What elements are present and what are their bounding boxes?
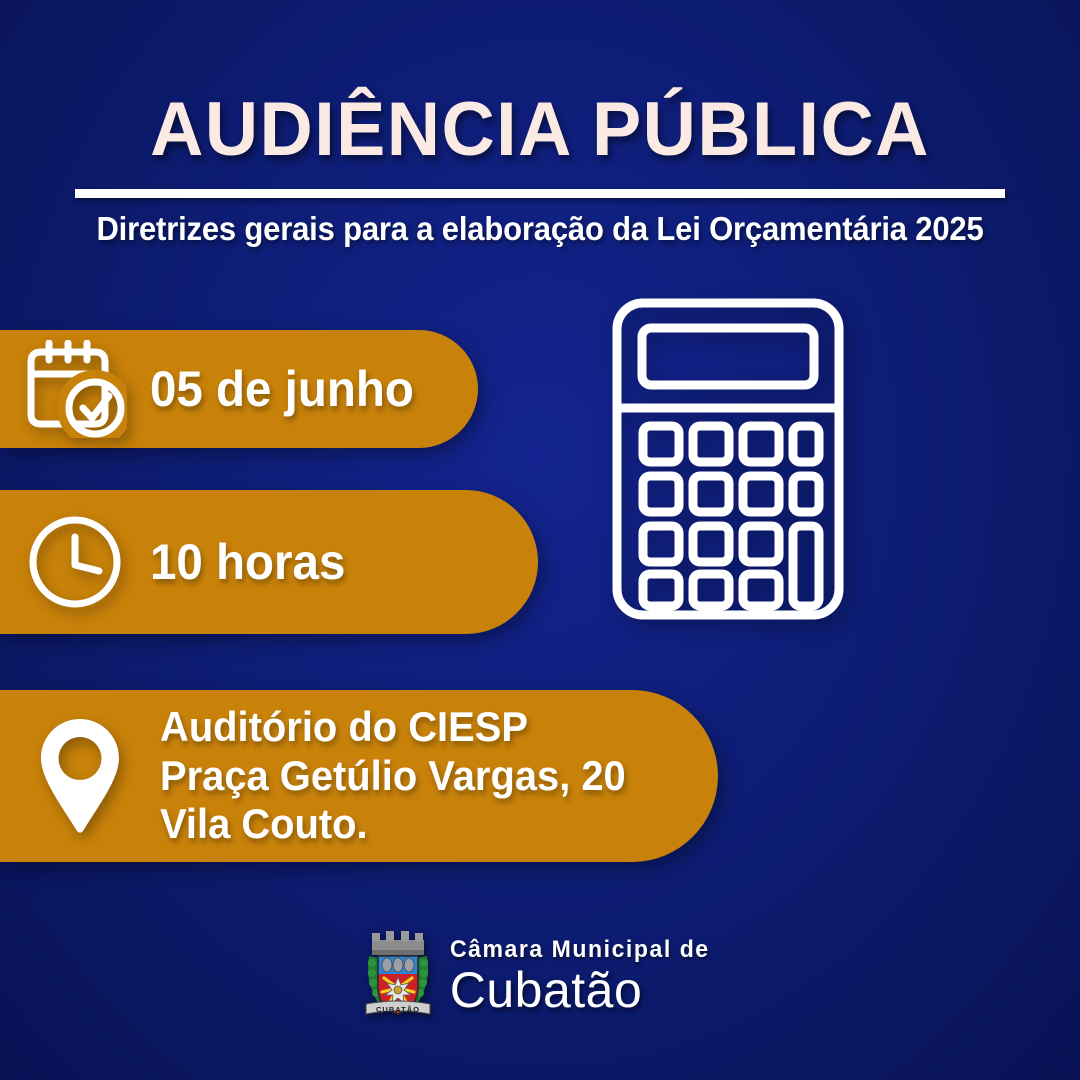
map-pin-icon [0, 717, 160, 835]
location-line-1: Auditório do CIESP [160, 703, 626, 752]
calculator-icon [612, 298, 844, 625]
logo-line-1: Câmara Municipal de [450, 936, 710, 964]
cubatao-coat-of-arms-icon: CUBATÃO [360, 930, 436, 1022]
logo-text: Câmara Municipal de Cubatão [450, 936, 720, 1016]
poster-header: AUDIÊNCIA PÚBLICA Diretrizes gerais para… [0, 0, 1080, 248]
title-divider [75, 189, 1005, 198]
info-pill-location-label: Auditório do CIESP Praça Getúlio Vargas,… [160, 703, 626, 849]
page-title: AUDIÊNCIA PÚBLICA [16, 0, 1064, 168]
info-pill-date: 05 de junho [0, 330, 478, 448]
location-line-2: Praça Getúlio Vargas, 20 [160, 752, 626, 801]
svg-text:CUBATÃO: CUBATÃO [376, 1005, 420, 1014]
info-pill-location: Auditório do CIESP Praça Getúlio Vargas,… [0, 690, 718, 862]
info-pill-time-label: 10 horas [150, 537, 345, 587]
info-pill-date-label: 05 de junho [150, 364, 414, 414]
page-subtitle: Diretrizes gerais para a elaboração da L… [89, 210, 991, 248]
clock-icon [0, 513, 150, 611]
poster-canvas: AUDIÊNCIA PÚBLICA Diretrizes gerais para… [0, 0, 1080, 1080]
info-pill-time: 10 horas [0, 490, 538, 634]
location-line-3: Vila Couto. [160, 800, 626, 849]
logo-line-2: Cubatão [450, 965, 643, 1016]
calendar-check-icon [0, 340, 150, 438]
logo: CUBATÃO Câmara Municipal de Cubatão [0, 930, 1080, 1022]
